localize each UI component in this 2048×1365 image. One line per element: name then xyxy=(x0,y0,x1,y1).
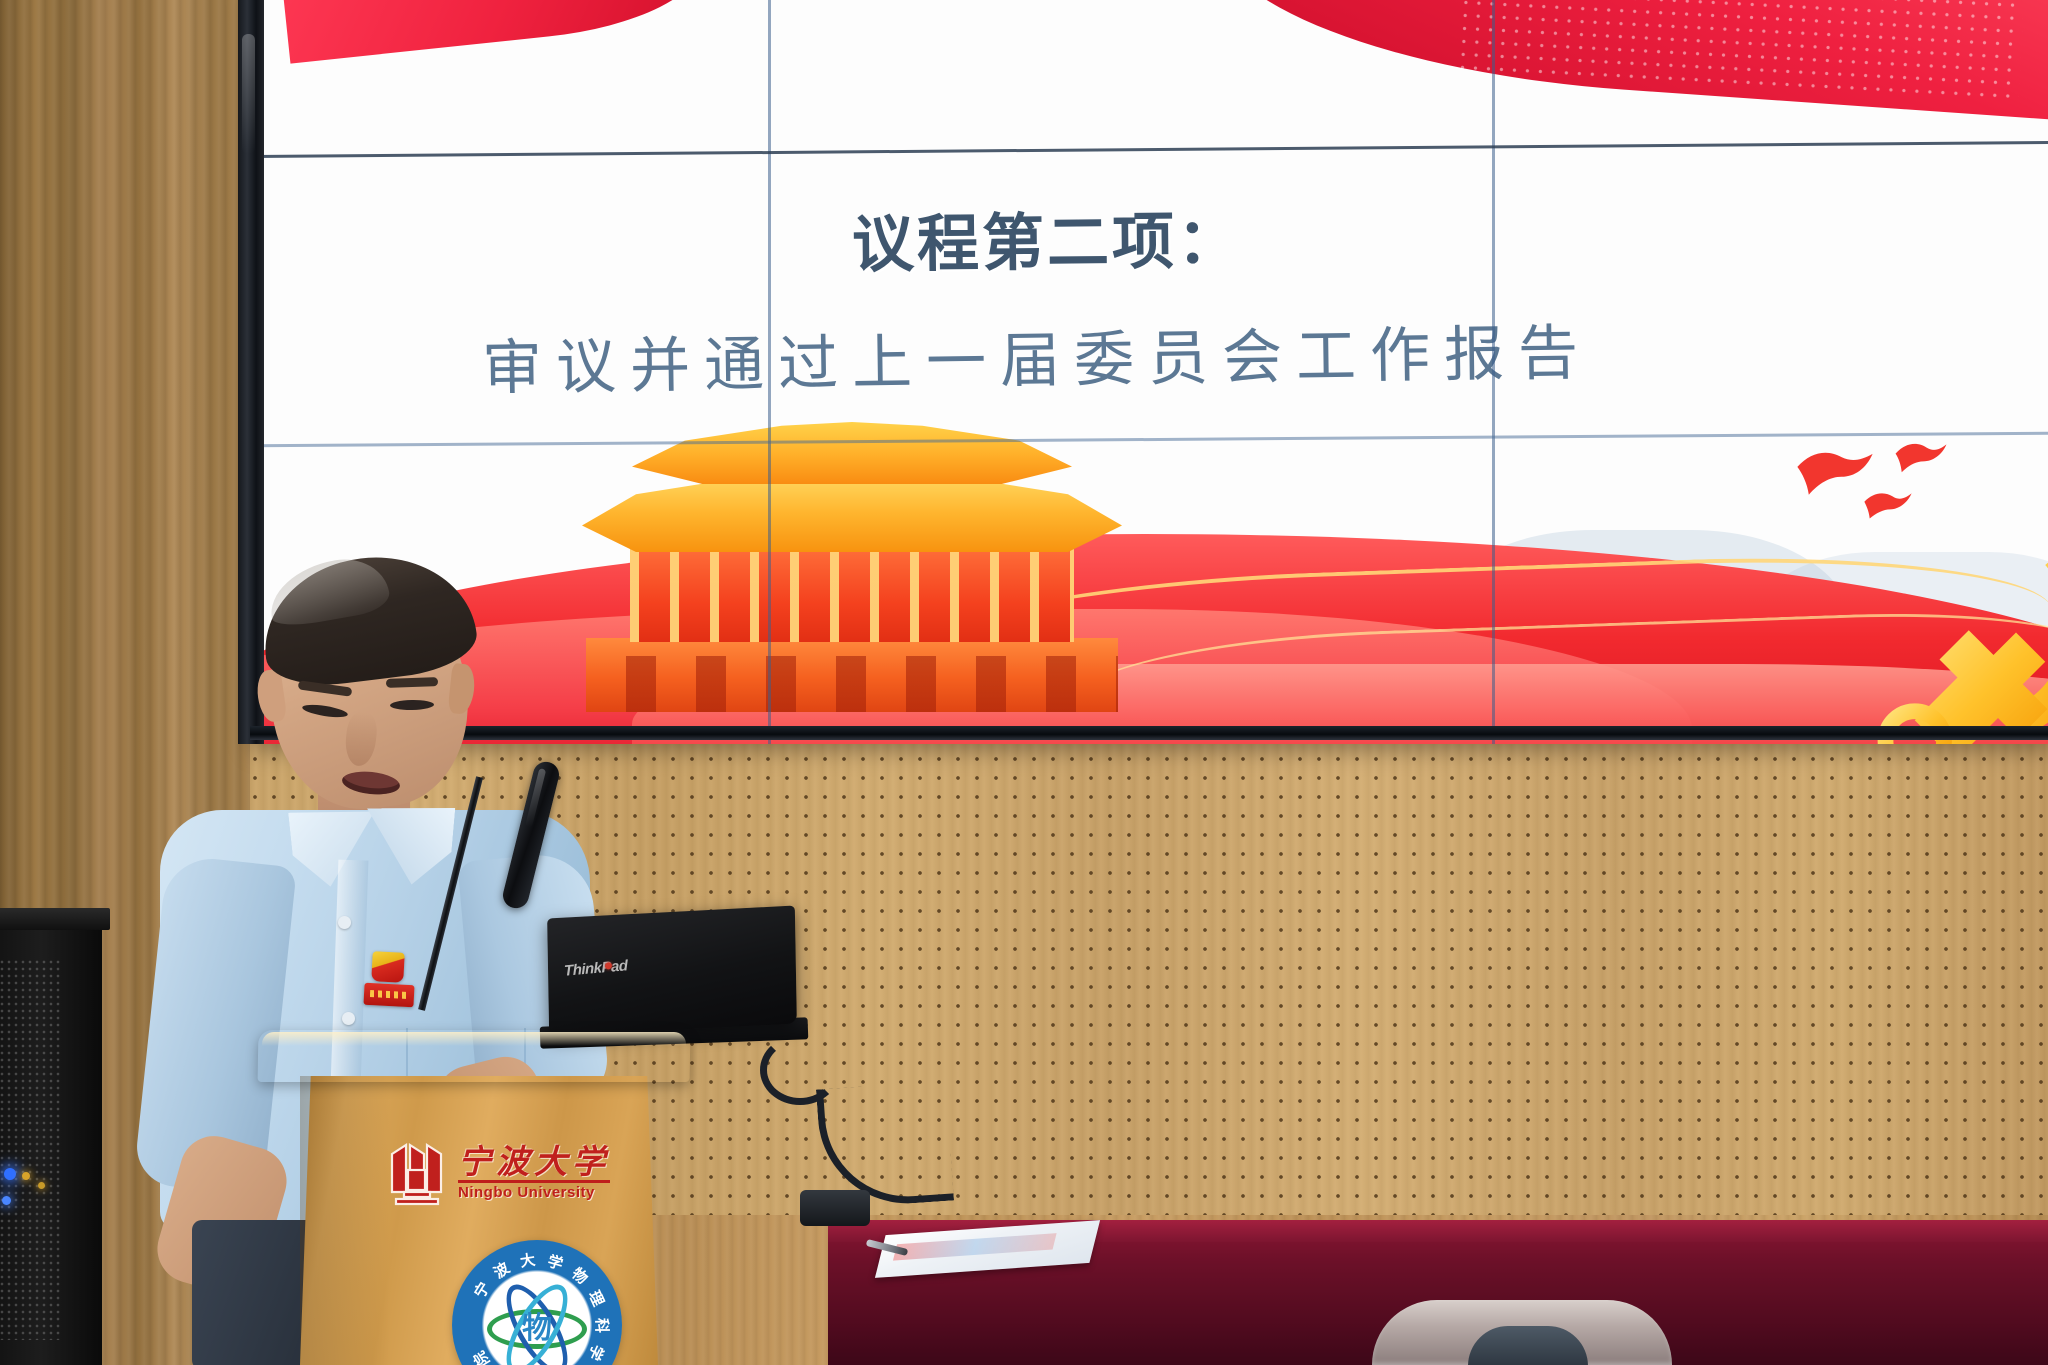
tiananmen-gate-icon xyxy=(572,418,1132,718)
shirt-button xyxy=(342,1012,355,1025)
equipment-rack-top xyxy=(0,908,110,930)
thinkpad-logo: ThinkPad xyxy=(564,957,628,980)
rack-mesh-grille xyxy=(0,960,62,1340)
ningbo-university-mark-icon xyxy=(388,1136,446,1208)
shirt-button xyxy=(338,916,351,929)
university-logo: 宁波大学 Ningbo University xyxy=(388,1126,618,1218)
person-head-behind-chair xyxy=(1468,1326,1588,1365)
thinkpad-laptop: ThinkPad xyxy=(547,905,797,1036)
rack-indicator-led xyxy=(38,1182,45,1189)
videowall-bezel-seam xyxy=(768,0,771,744)
hammer-and-sickle-icon xyxy=(1836,520,2048,744)
cable-connector-box xyxy=(800,1190,870,1226)
ear xyxy=(447,663,476,715)
national-flag-pin-icon xyxy=(371,951,405,983)
atom-orbit-icon: 物 xyxy=(484,1276,590,1365)
badge-ring-char: 大 xyxy=(519,1249,537,1272)
rack-indicator-led xyxy=(2,1196,11,1205)
videowall-bezel-seam xyxy=(1492,0,1495,744)
party-member-badge-icon xyxy=(363,983,414,1008)
dove-icon xyxy=(1862,488,1914,520)
conference-photo: 议程第二项： 审议并通过上一届委员会工作报告 xyxy=(0,0,2048,1365)
podium-top-highlight xyxy=(262,1032,686,1046)
badge-core-glyph: 物 xyxy=(520,1312,554,1346)
rack-indicator-led xyxy=(22,1172,30,1180)
department-badge: 宁波大学物理科学与技术学院 物 xyxy=(452,1240,622,1365)
university-name-cn: 宁波大学 xyxy=(458,1145,610,1178)
dove-icon xyxy=(1894,438,1948,474)
university-name-en: Ningbo University xyxy=(458,1180,610,1200)
badge-ring-char: 学 xyxy=(545,1250,565,1274)
rack-indicator-led xyxy=(4,1168,16,1180)
cpc-emblem-group xyxy=(1776,426,2048,744)
eyebrow xyxy=(386,677,438,688)
badge-ring-char: 科 xyxy=(592,1318,613,1333)
